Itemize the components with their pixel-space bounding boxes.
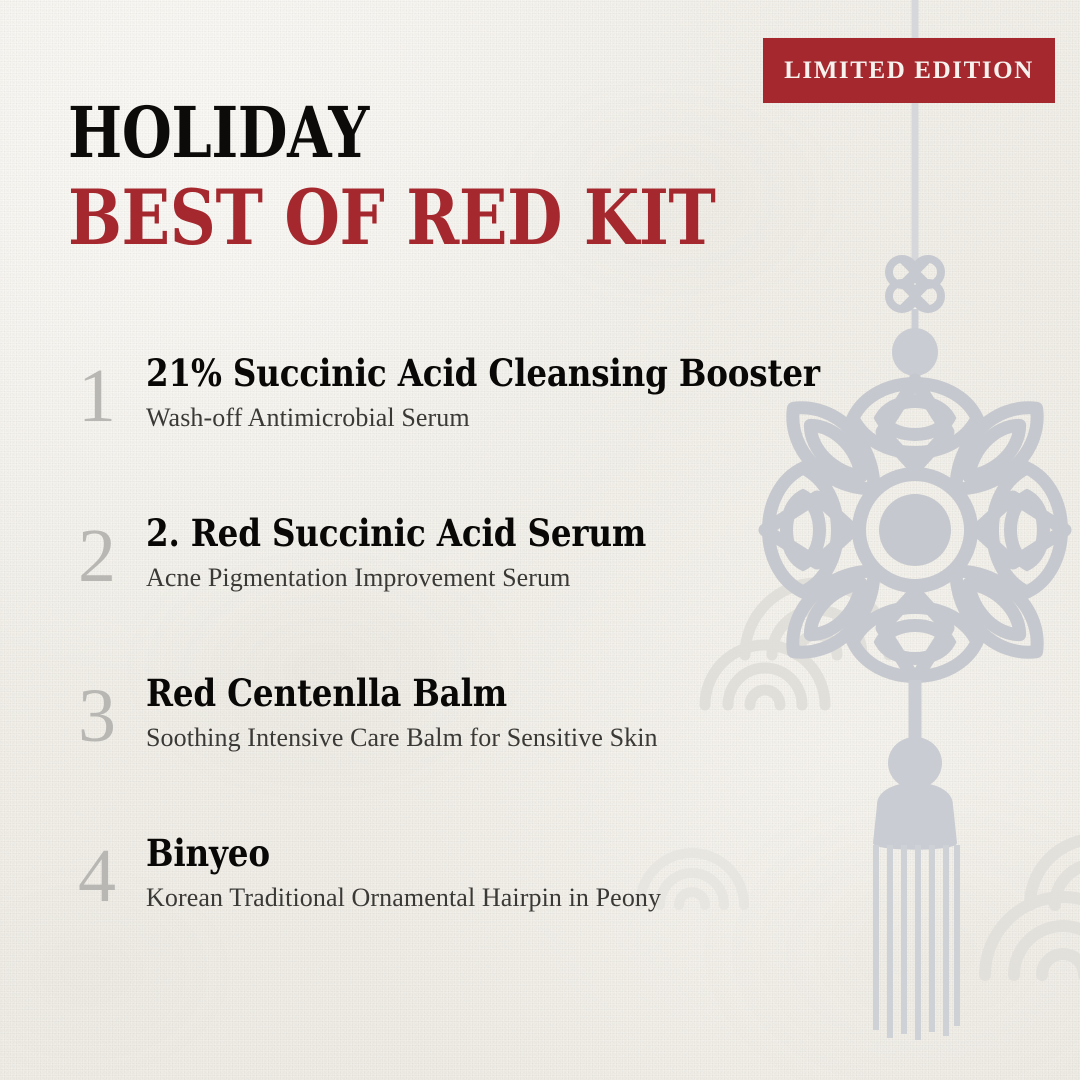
- list-item-body: 21% Succinic Acid Cleansing Booster Wash…: [146, 348, 898, 434]
- product-list: 1 21% Succinic Acid Cleansing Booster Wa…: [78, 348, 898, 988]
- list-item-description: Korean Traditional Ornamental Hairpin in…: [146, 882, 898, 914]
- list-item-number: 1: [78, 352, 140, 440]
- limited-edition-badge: LIMITED EDITION: [763, 38, 1055, 103]
- list-item-number: 2: [78, 512, 140, 600]
- list-item-body: Red Centenlla Balm Soothing Intensive Ca…: [146, 668, 898, 754]
- poster-canvas: LIMITED EDITION HOLIDAY BEST OF RED KIT …: [0, 0, 1080, 1080]
- title-line-holiday: HOLIDAY: [68, 96, 700, 170]
- list-item-description: Acne Pigmentation Improvement Serum: [146, 562, 898, 594]
- list-item-number: 3: [78, 672, 140, 760]
- list-item: 3 Red Centenlla Balm Soothing Intensive …: [78, 668, 898, 828]
- list-item-description: Wash-off Antimicrobial Serum: [146, 402, 898, 434]
- list-item-title: 21% Succinic Acid Cleansing Booster: [146, 348, 808, 398]
- title-line-best-of-red-kit: BEST OF RED KIT: [68, 178, 715, 258]
- list-item-title: 2. Red Succinic Acid Serum: [146, 508, 808, 558]
- list-item-number: 4: [78, 832, 140, 920]
- page-title: HOLIDAY BEST OF RED KIT: [68, 96, 839, 258]
- list-item: 2 2. Red Succinic Acid Serum Acne Pigmen…: [78, 508, 898, 668]
- list-item-description: Soothing Intensive Care Balm for Sensiti…: [146, 722, 898, 754]
- list-item-body: 2. Red Succinic Acid Serum Acne Pigmenta…: [146, 508, 898, 594]
- list-item-title: Binyeo: [146, 828, 808, 878]
- limited-edition-badge-label: LIMITED EDITION: [784, 57, 1034, 85]
- list-item-title: Red Centenlla Balm: [146, 668, 808, 718]
- list-item-body: Binyeo Korean Traditional Ornamental Hai…: [146, 828, 898, 914]
- list-item: 4 Binyeo Korean Traditional Ornamental H…: [78, 828, 898, 988]
- list-item: 1 21% Succinic Acid Cleansing Booster Wa…: [78, 348, 898, 508]
